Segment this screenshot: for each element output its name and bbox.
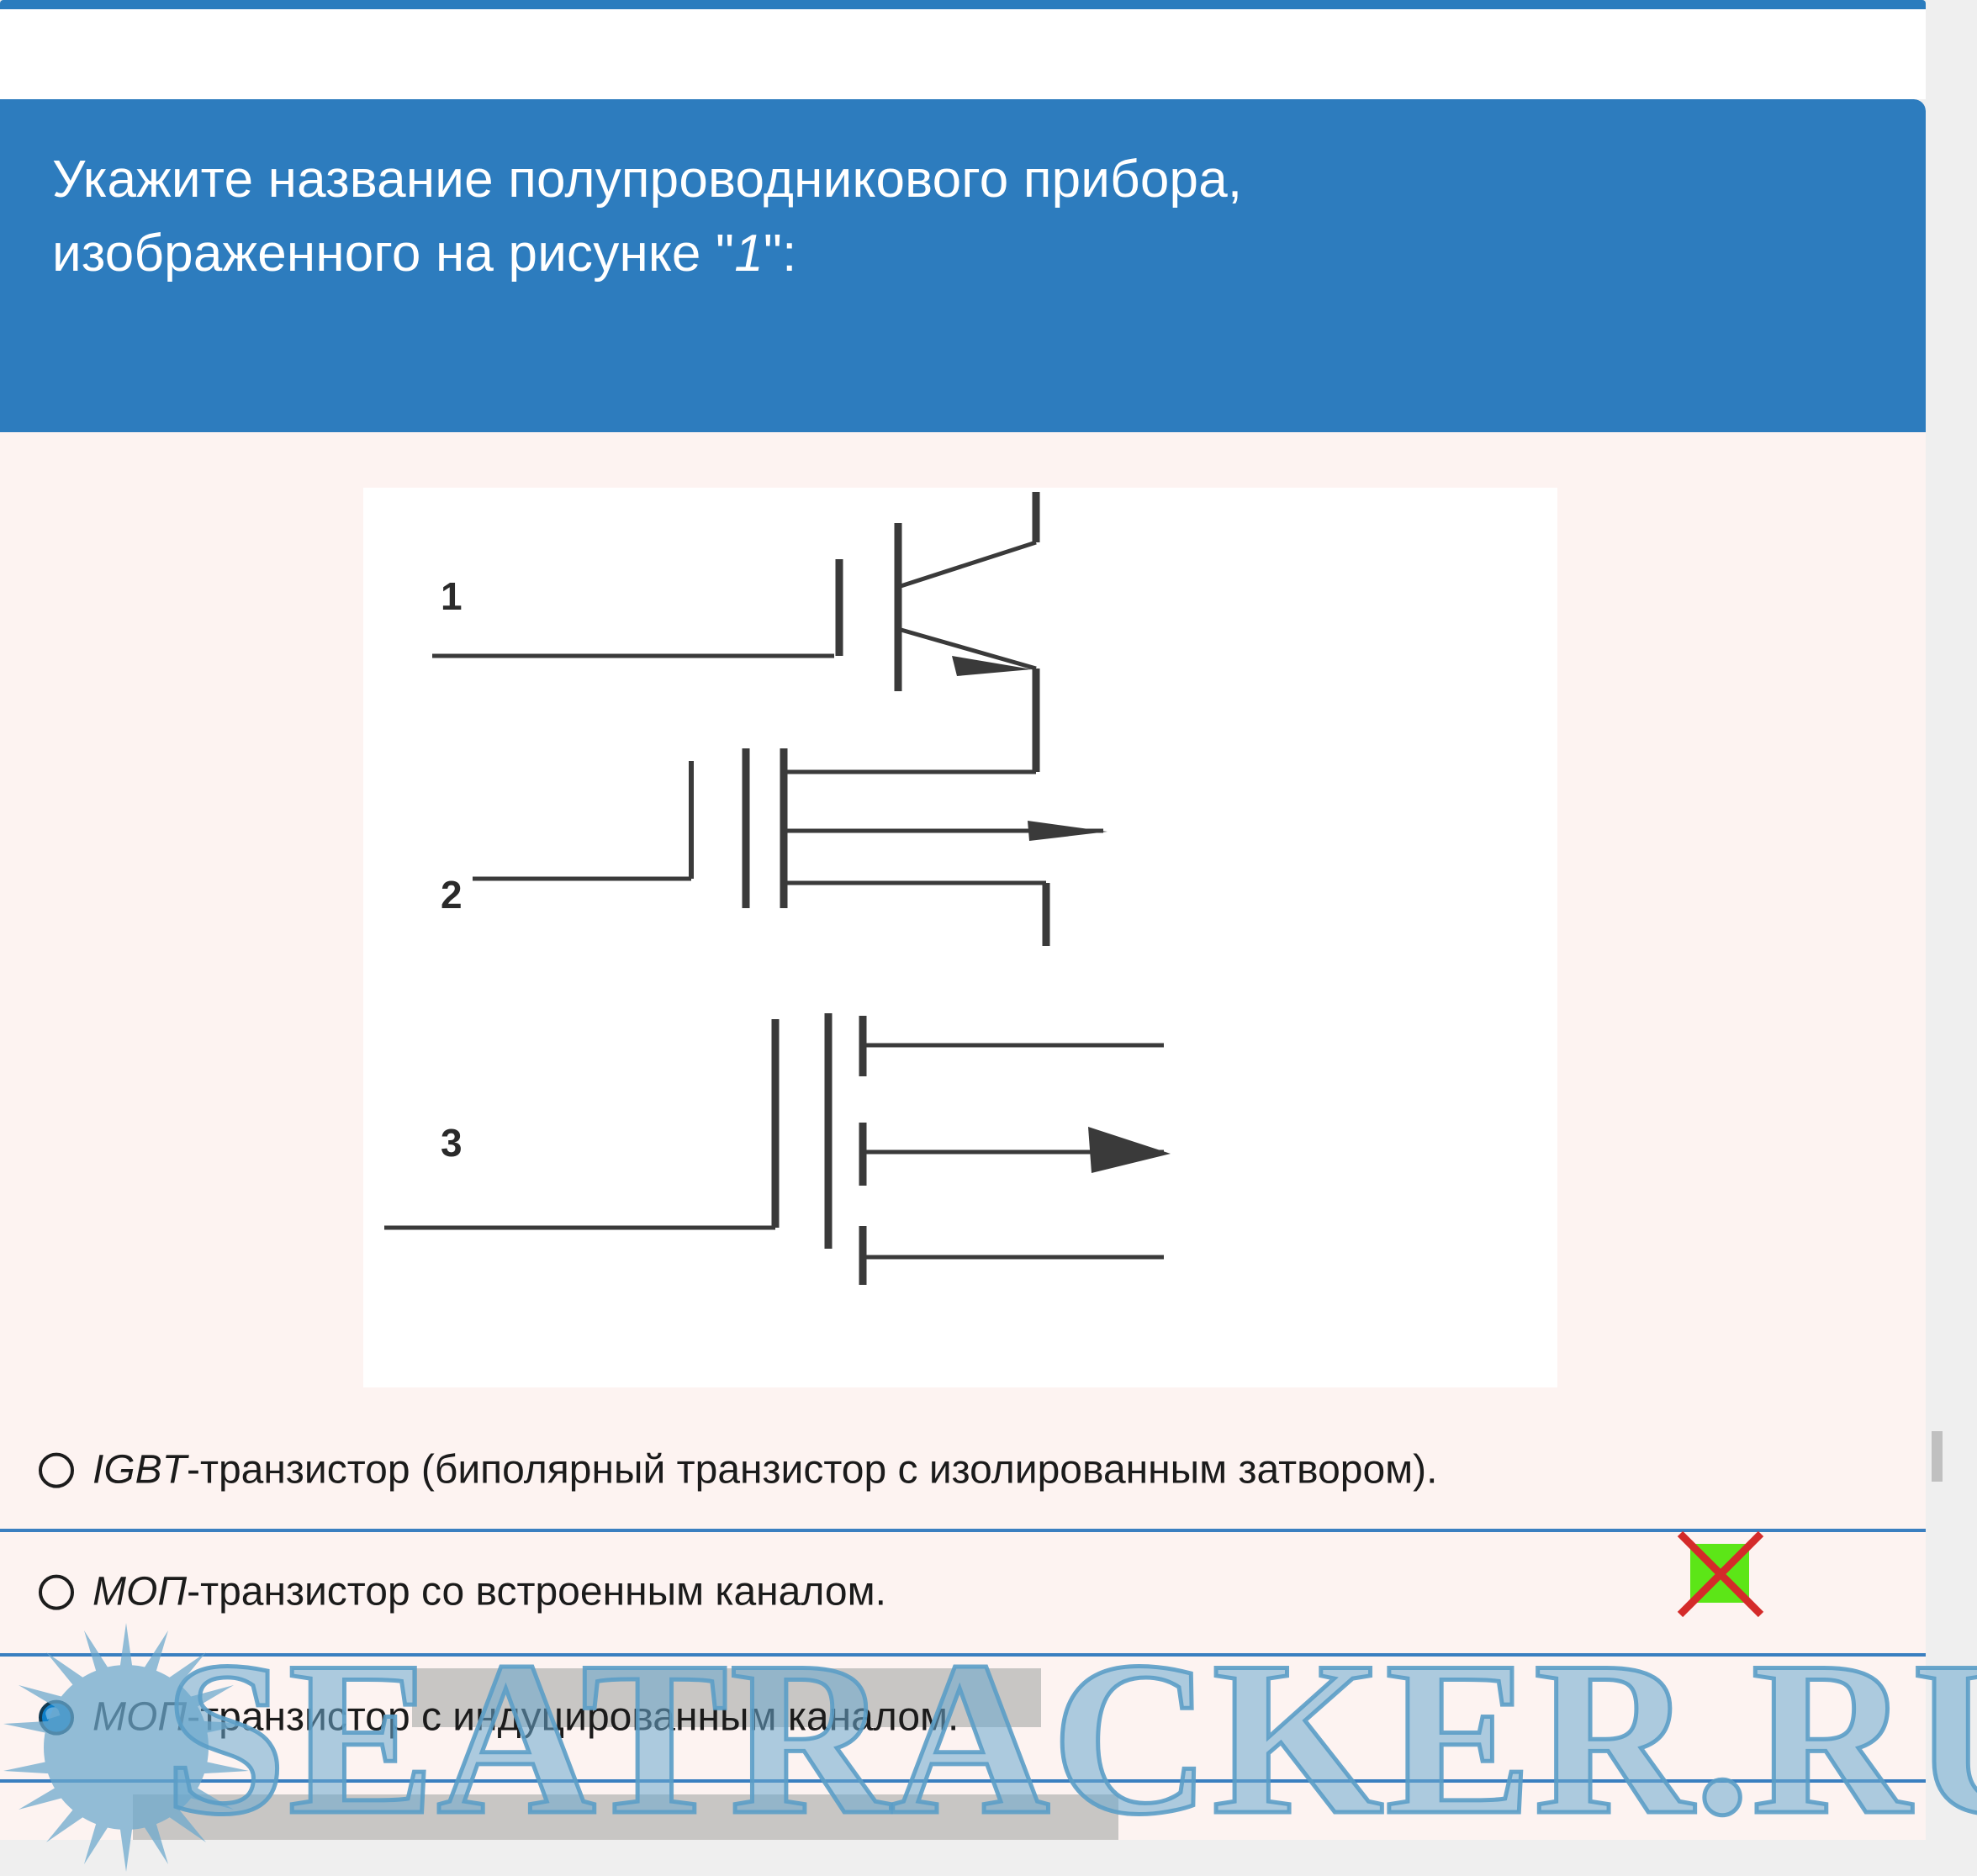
- radio-button-mos-builtin[interactable]: [39, 1575, 74, 1610]
- radio-button-igbt[interactable]: [39, 1453, 74, 1488]
- page-title: Укажите название полупроводникового приб…: [52, 143, 1874, 291]
- scrollbar-thumb[interactable]: [1932, 1431, 1943, 1482]
- answer-option-mos-builtin-abbr: МОП: [93, 1570, 187, 1614]
- transistor-symbols-svg: 1 2: [363, 488, 1557, 1387]
- diagram-label-1: 1: [441, 574, 463, 618]
- answer-option-igbt[interactable]: IGBT-транзистор (биполярный транзистор с…: [0, 1411, 1926, 1530]
- question-card: Укажите название полупроводникового приб…: [0, 99, 1926, 1840]
- question-header: Укажите название полупроводникового приб…: [0, 99, 1926, 432]
- scrollbar-gutter[interactable]: [1926, 0, 1977, 1872]
- answer-option-igbt-text: -транзистор (биполярный транзистор с изо…: [187, 1448, 1437, 1493]
- top-white-gap: [0, 9, 1926, 99]
- answer-option-mos-induced[interactable]: МОП-транзистор с индуцированным каналом.: [0, 1655, 1926, 1781]
- answer-option-mos-builtin[interactable]: МОП-транзистор со встроенным каналом.: [0, 1530, 1926, 1655]
- diagram-label-2: 2: [441, 873, 463, 917]
- question-title-figure-number: 1: [734, 225, 764, 283]
- answer-option-label-igbt: IGBT-транзистор (биполярный транзистор с…: [93, 1449, 1438, 1493]
- diagram-label-3: 3: [441, 1121, 463, 1165]
- text-selection-highlight-option-3: [133, 1794, 1118, 1840]
- answer-option-mos-builtin-text: -транзистор со встроенным каналом.: [187, 1570, 886, 1614]
- question-title-line2-after: ":: [764, 225, 797, 283]
- answer-option-label-mos-induced: МОП-транзистор с индуцированным каналом.: [93, 1696, 959, 1741]
- radio-button-mos-induced[interactable]: [39, 1700, 74, 1736]
- diagram-image: 1 2: [363, 488, 1557, 1387]
- top-accent-strip: [0, 0, 1926, 9]
- answer-option-igbt-abbr: IGBT: [93, 1448, 187, 1493]
- answer-option-mos-induced-text: -транзистор с индуцированным каналом.: [187, 1695, 959, 1740]
- question-title-line1: Укажите название полупроводникового приб…: [52, 151, 1242, 209]
- question-title-line2-before: изображенного на рисунке ": [52, 225, 734, 283]
- answer-option-mos-induced-abbr: МОП: [93, 1695, 187, 1740]
- answer-option-label-mos-builtin: МОП-транзистор со встроенным каналом.: [93, 1571, 886, 1615]
